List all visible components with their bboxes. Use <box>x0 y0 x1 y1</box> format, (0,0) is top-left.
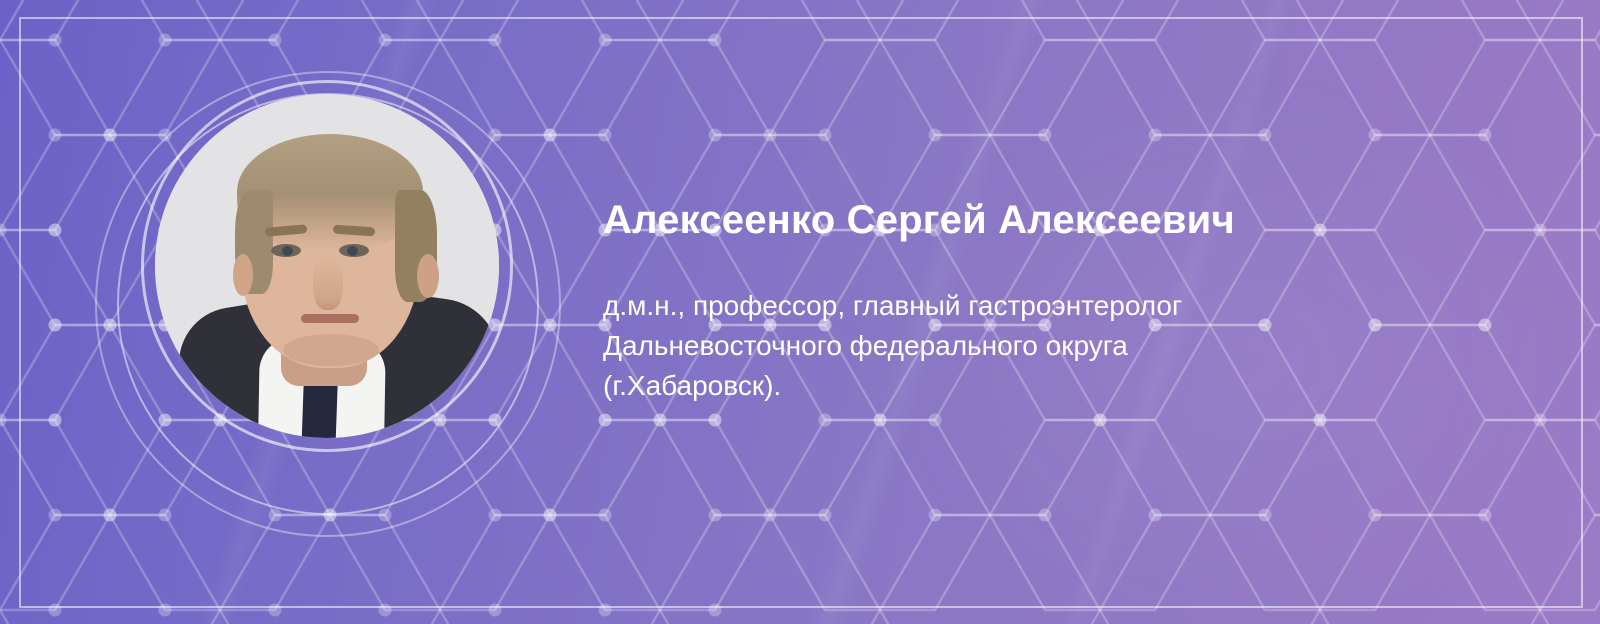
portrait-block <box>155 62 500 567</box>
chin-shadow <box>283 334 379 366</box>
description-line-1: д.м.н., профессор, главный гастроэнтерол… <box>603 286 1463 326</box>
mouth <box>301 314 359 323</box>
speaker-description: д.м.н., профессор, главный гастроэнтерол… <box>603 286 1463 406</box>
page-title: Алексеенко Сергей Алексеевич <box>603 196 1463 244</box>
speaker-text-block: Алексеенко Сергей Алексеевич д.м.н., про… <box>603 196 1463 406</box>
nose <box>313 258 343 310</box>
avatar <box>155 94 499 438</box>
description-line-2: Дальневосточного федерального округа <box>603 326 1463 366</box>
portrait-photo <box>155 94 499 438</box>
pupil-left <box>282 246 293 256</box>
speaker-banner: Алексеенко Сергей Алексеевич д.м.н., про… <box>0 0 1600 624</box>
pupil-right <box>347 246 358 256</box>
ear-right <box>417 254 439 298</box>
ear-left <box>233 254 253 296</box>
description-line-3: (г.Хабаровск). <box>603 366 1463 406</box>
